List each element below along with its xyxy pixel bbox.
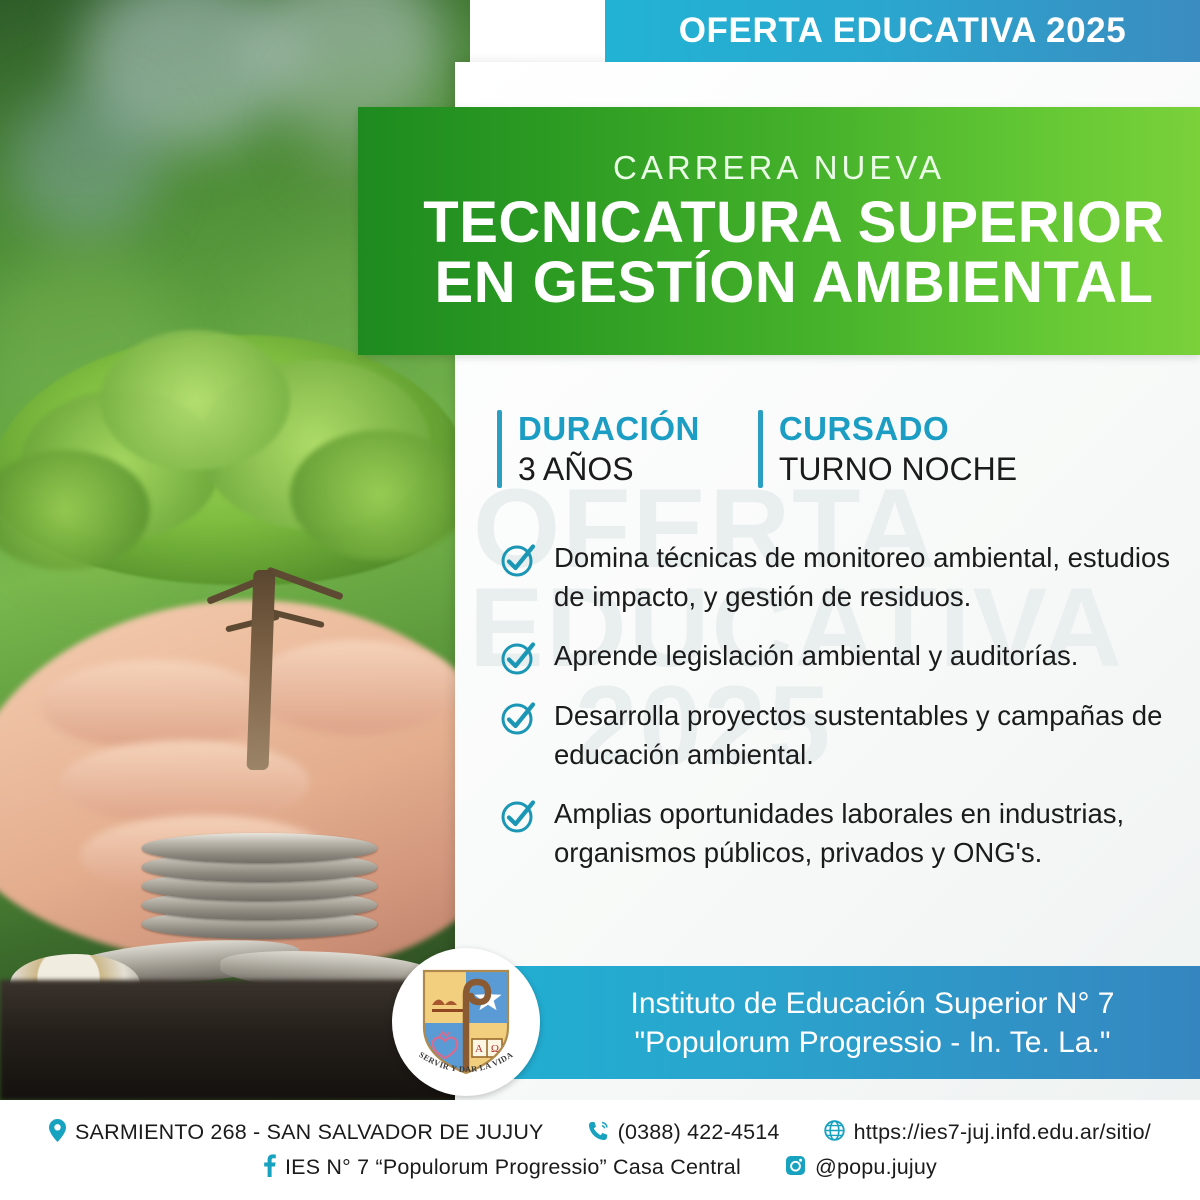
footer-social-row: IES N° 7 “Populorum Progressio” Casa Cen…: [263, 1154, 937, 1182]
list-item-text: Amplias oportunidades laborales en indus…: [554, 794, 1190, 872]
meta-duration-value: 3 AÑOS: [518, 450, 700, 488]
meta-cursado-label: CURSADO: [779, 410, 1017, 448]
logo-book-left-letter: A: [475, 1043, 483, 1055]
list-item-text: Aprende legislación ambiental y auditorí…: [554, 636, 1078, 676]
tree-canopy-cluster: [100, 330, 290, 470]
bokeh-light: [10, 90, 160, 240]
list-item: Domina técnicas de monitoreo ambiental, …: [500, 538, 1190, 616]
meta-cursado-value: TURNO NOCHE: [779, 450, 1017, 488]
meta-duration: DURACIÓN 3 AÑOS: [497, 410, 700, 488]
footer-instagram-text: @popu.jujuy: [815, 1155, 937, 1180]
meta-divider: [497, 410, 502, 488]
list-item: Amplias oportunidades laborales en indus…: [500, 794, 1190, 872]
institute-logo: A Ω SERVIR Y DAR LA VIDA: [392, 948, 540, 1096]
career-title-banner: CARRERA NUEVA TECNICATURA SUPERIOR EN GE…: [358, 107, 1200, 355]
meta-cursado: CURSADO TURNO NOCHE: [758, 410, 1017, 488]
footer-phone-text: (0388) 422-4514: [618, 1120, 780, 1145]
flyer-root: OFERTA EDUCATIVA 2025 OFERTA EDUCATIVA 2…: [0, 0, 1200, 1200]
phone-icon: [588, 1120, 609, 1146]
list-item: Desarrolla proyectos sustentables y camp…: [500, 696, 1190, 774]
coin: [142, 833, 377, 863]
footer-contact-row: SARMIENTO 268 - SAN SALVADOR DE JUJUY (0…: [49, 1119, 1151, 1147]
instagram-icon: [785, 1155, 806, 1181]
list-item-text: Desarrolla proyectos sustentables y camp…: [554, 696, 1190, 774]
finger: [250, 640, 460, 735]
footer-website-text: https://ies7-juj.infd.edu.ar/sitio/: [854, 1120, 1151, 1145]
footer-address: SARMIENTO 268 - SAN SALVADOR DE JUJUY: [49, 1119, 544, 1147]
footer-instagram[interactable]: @popu.jujuy: [785, 1155, 937, 1181]
footer-address-text: SARMIENTO 268 - SAN SALVADOR DE JUJUY: [75, 1120, 544, 1145]
meta-duration-label: DURACIÓN: [518, 410, 700, 448]
course-meta: DURACIÓN 3 AÑOS CURSADO TURNO NOCHE: [497, 410, 1017, 488]
institute-name-line-2: "Populorum Progressio - In. Te. La.": [631, 1023, 1115, 1062]
footer: SARMIENTO 268 - SAN SALVADOR DE JUJUY (0…: [0, 1100, 1200, 1200]
footer-facebook-text: IES N° 7 “Populorum Progressio” Casa Cen…: [285, 1155, 741, 1180]
institute-name: Instituto de Educación Superior N° 7 "Po…: [541, 984, 1115, 1062]
career-title: TECNICATURA SUPERIOR EN GESTÍON AMBIENTA…: [393, 193, 1164, 312]
footer-phone[interactable]: (0388) 422-4514: [588, 1120, 780, 1146]
tree-canopy-cluster: [290, 430, 470, 560]
career-title-line-1: TECNICATURA SUPERIOR: [423, 193, 1164, 253]
benefits-list: Domina técnicas de monitoreo ambiental, …: [500, 538, 1190, 892]
header-banner-title: OFERTA EDUCATIVA 2025: [679, 11, 1127, 51]
header-banner: OFERTA EDUCATIVA 2025: [605, 0, 1200, 62]
finger: [60, 740, 310, 825]
coat-of-arms-icon: A Ω SERVIR Y DAR LA VIDA: [410, 961, 522, 1083]
career-title-line-2: EN GESTÍON AMBIENTAL: [423, 253, 1164, 313]
career-kicker: CARRERA NUEVA: [613, 149, 945, 187]
facebook-icon: [263, 1154, 276, 1182]
institute-banner: Instituto de Educación Superior N° 7 "Po…: [455, 966, 1200, 1079]
finger: [40, 660, 270, 750]
footer-facebook[interactable]: IES N° 7 “Populorum Progressio” Casa Cen…: [263, 1154, 741, 1182]
globe-icon: [824, 1120, 845, 1146]
check-circle-icon: [500, 798, 536, 834]
list-item-text: Domina técnicas de monitoreo ambiental, …: [554, 538, 1190, 616]
institute-name-line-1: Instituto de Educación Superior N° 7: [631, 984, 1115, 1023]
check-circle-icon: [500, 640, 536, 676]
meta-divider: [758, 410, 763, 488]
check-circle-icon: [500, 700, 536, 736]
check-circle-icon: [500, 542, 536, 578]
footer-website[interactable]: https://ies7-juj.infd.edu.ar/sitio/: [824, 1120, 1151, 1146]
list-item: Aprende legislación ambiental y auditorí…: [500, 636, 1190, 676]
location-pin-icon: [49, 1119, 66, 1147]
coin-stack: [142, 833, 377, 943]
